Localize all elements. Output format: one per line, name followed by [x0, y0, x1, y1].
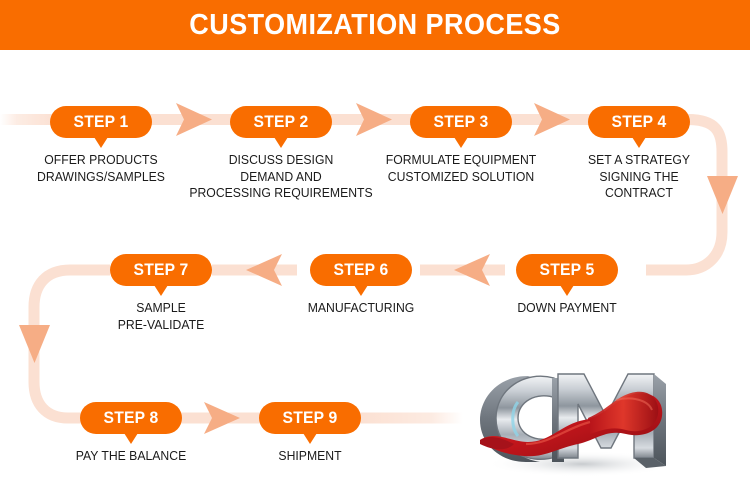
step-6-badge[interactable]: STEP 6 [310, 254, 412, 286]
step-8-caption: PAY THE BALANCE [72, 448, 190, 465]
step-3-caption-line-1: FORMULATE EQUIPMENT [386, 152, 537, 169]
step-7-caption: SAMPLE PRE-VALIDATE [115, 300, 207, 333]
step-5[interactable]: STEP 5 DOWN PAYMENT [516, 254, 618, 286]
step-2-caption-line-1: DISCUSS DESIGN [189, 152, 372, 169]
step-3[interactable]: STEP 3 FORMULATE EQUIPMENT CUSTOMIZED SO… [410, 106, 512, 138]
step-1-badge[interactable]: STEP 1 [50, 106, 152, 138]
step-8-pointer-icon [124, 433, 138, 444]
step-3-pointer-icon [454, 137, 468, 148]
step-7-badge[interactable]: STEP 7 [110, 254, 212, 286]
step-2-badge[interactable]: STEP 2 [230, 106, 332, 138]
step-1-badge-label: STEP 1 [53, 106, 150, 138]
step-9-badge-label: STEP 9 [262, 402, 359, 434]
step-9[interactable]: STEP 9 SHIPMENT [259, 402, 361, 434]
step-4-badge-label: STEP 4 [591, 106, 688, 138]
step-2-badge-label: STEP 2 [233, 106, 330, 138]
step-2-caption: DISCUSS DESIGN DEMAND AND PROCESSING REQ… [183, 152, 378, 202]
step-4-pointer-icon [632, 137, 646, 148]
step-3-caption: FORMULATE EQUIPMENT CUSTOMIZED SOLUTION [381, 152, 541, 185]
step-4-caption-line-3: CONTRACT [588, 185, 690, 202]
step-5-caption-line-1: DOWN PAYMENT [517, 300, 616, 317]
step-8-badge-label: STEP 8 [83, 402, 180, 434]
step-8-caption-line-1: PAY THE BALANCE [76, 448, 186, 465]
step-1-caption-line-2: DRAWINGS/SAMPLES [37, 169, 165, 186]
step-2-caption-line-2: DEMAND AND [189, 169, 372, 186]
step-7-caption-line-2: PRE-VALIDATE [118, 317, 204, 334]
step-6-caption-line-1: MANUFACTURING [308, 300, 415, 317]
left-wrap-curve [19, 270, 110, 418]
customization-process-infographic: CUSTOMIZATION PROCESS [0, 0, 750, 485]
step-4-badge[interactable]: STEP 4 [588, 106, 690, 138]
step-4-caption: SET A STRATEGY SIGNING THE CONTRACT [585, 152, 694, 202]
step-3-caption-line-2: CUSTOMIZED SOLUTION [386, 169, 537, 186]
step-1-caption-line-1: OFFER PRODUCTS [37, 152, 165, 169]
step-5-pointer-icon [560, 285, 574, 296]
step-5-badge-label: STEP 5 [519, 254, 616, 286]
step-8[interactable]: STEP 8 PAY THE BALANCE [80, 402, 182, 434]
step-7[interactable]: STEP 7 SAMPLE PRE-VALIDATE [110, 254, 212, 286]
step-5-caption: DOWN PAYMENT [514, 300, 620, 317]
step-1-caption: OFFER PRODUCTS DRAWINGS/SAMPLES [33, 152, 169, 185]
step-8-badge[interactable]: STEP 8 [80, 402, 182, 434]
step-9-caption-line-1: SHIPMENT [278, 448, 341, 465]
step-7-pointer-icon [154, 285, 168, 296]
step-5-badge[interactable]: STEP 5 [516, 254, 618, 286]
step-9-badge[interactable]: STEP 9 [259, 402, 361, 434]
step-3-badge[interactable]: STEP 3 [410, 106, 512, 138]
step-6-badge-label: STEP 6 [313, 254, 410, 286]
step-7-badge-label: STEP 7 [113, 254, 210, 286]
step-2[interactable]: STEP 2 DISCUSS DESIGN DEMAND AND PROCESS… [230, 106, 332, 138]
step-2-caption-line-3: PROCESSING REQUIREMENTS [189, 185, 372, 202]
step-1-pointer-icon [94, 137, 108, 148]
step-3-badge-label: STEP 3 [413, 106, 510, 138]
step-6[interactable]: STEP 6 MANUFACTURING [310, 254, 412, 286]
cm-logo [466, 358, 698, 480]
step-1[interactable]: STEP 1 OFFER PRODUCTS DRAWINGS/SAMPLES [50, 106, 152, 138]
step-9-pointer-icon [303, 433, 317, 444]
step-6-caption: MANUFACTURING [304, 300, 417, 317]
step-4[interactable]: STEP 4 SET A STRATEGY SIGNING THE CONTRA… [588, 106, 690, 138]
step-4-caption-line-1: SET A STRATEGY [588, 152, 690, 169]
step-9-caption: SHIPMENT [276, 448, 343, 465]
step-6-pointer-icon [354, 285, 368, 296]
step-4-caption-line-2: SIGNING THE [588, 169, 690, 186]
step-2-pointer-icon [274, 137, 288, 148]
step-7-caption-line-1: SAMPLE [118, 300, 204, 317]
